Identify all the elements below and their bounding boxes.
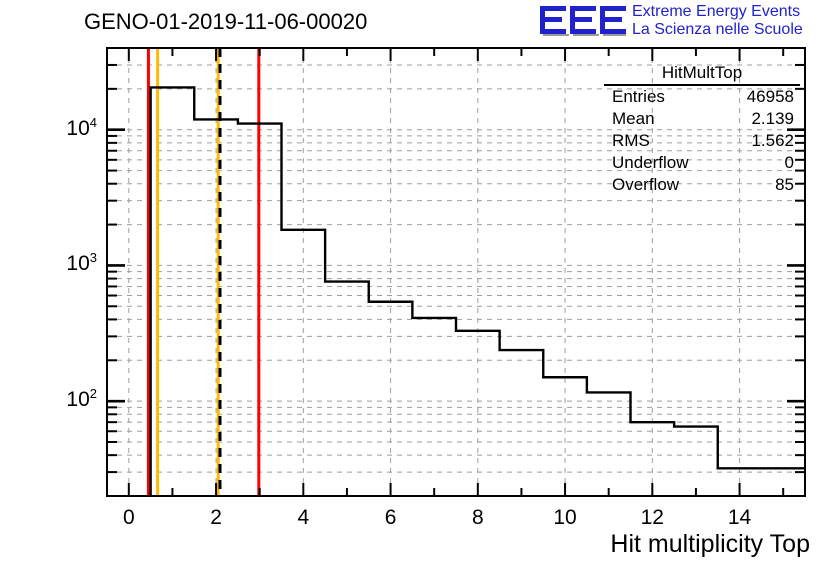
y-tick-label-10000: 104 xyxy=(35,115,97,141)
y-tick-label-100: 102 xyxy=(35,386,97,412)
stats-row-key: Mean xyxy=(612,109,655,129)
y-tick-label-1000: 103 xyxy=(35,250,97,276)
x-tick-label-6: 6 xyxy=(371,506,411,530)
stats-row-key: Entries xyxy=(612,87,665,107)
x-tick-label-12: 12 xyxy=(632,506,672,530)
stats-row-value: 2.139 xyxy=(751,109,794,129)
x-tick-label-14: 14 xyxy=(720,506,760,530)
x-tick-label-0: 0 xyxy=(109,506,149,530)
stats-row: Underflow0 xyxy=(604,152,800,174)
x-tick-label-10: 10 xyxy=(545,506,585,530)
stats-box: HitMultTop Entries46958Mean2.139RMS1.562… xyxy=(604,63,800,196)
stats-row: Entries46958 xyxy=(604,86,800,108)
stats-box-rows: Entries46958Mean2.139RMS1.562Underflow0O… xyxy=(604,86,800,196)
x-tick-label-4: 4 xyxy=(283,506,323,530)
stats-row-value: 0 xyxy=(785,153,794,173)
x-axis-title: Hit multiplicity Top xyxy=(610,530,810,559)
root-canvas: GENO-01-2019-11-06-00020 xyxy=(0,0,836,572)
stats-row: RMS1.562 xyxy=(604,130,800,152)
stats-row-key: Underflow xyxy=(612,153,689,173)
stats-row-key: RMS xyxy=(612,131,650,151)
stats-row-value: 46958 xyxy=(747,87,794,107)
stats-row-value: 1.562 xyxy=(751,131,794,151)
stats-row: Mean2.139 xyxy=(604,108,800,130)
x-tick-label-8: 8 xyxy=(458,506,498,530)
stats-row: Overflow85 xyxy=(604,174,800,196)
stats-row-value: 85 xyxy=(775,175,794,195)
stats-row-key: Overflow xyxy=(612,175,679,195)
stats-box-title: HitMultTop xyxy=(604,63,800,86)
x-tick-label-2: 2 xyxy=(196,506,236,530)
